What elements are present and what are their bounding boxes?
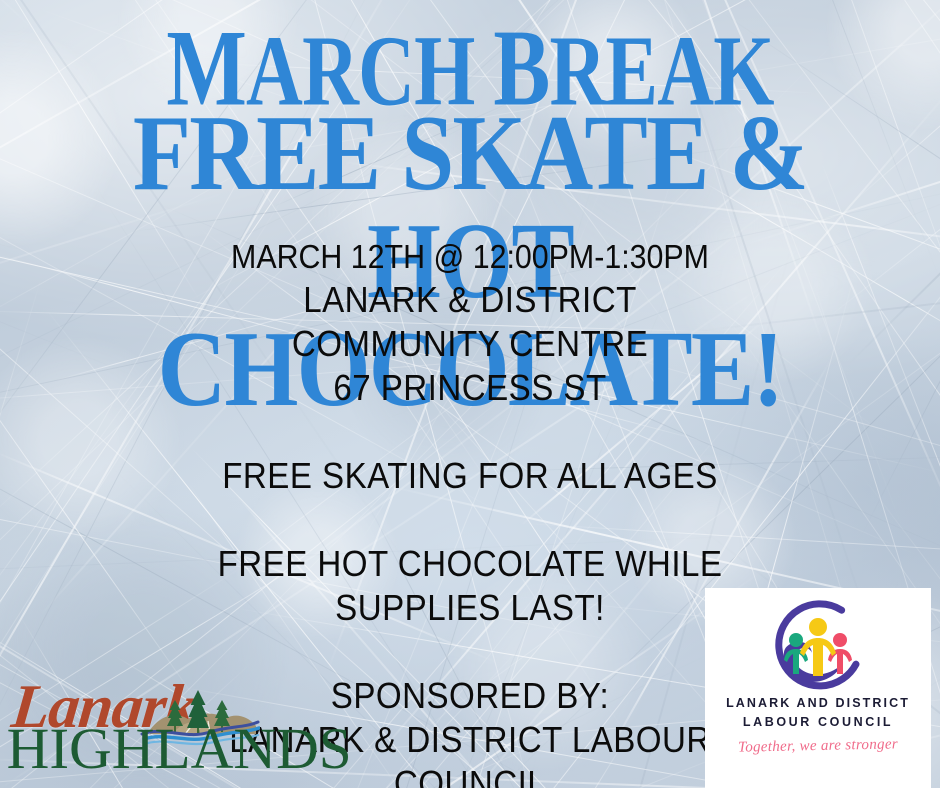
labour-council-emblem-icon [762,594,874,694]
labour-council-name-line-1: LANARK AND DISTRICT [705,694,931,713]
spacer [0,498,940,542]
poster-canvas: MARCH BREAK FREE SKATE & HOT CHOCOLATE! … [0,0,940,788]
offer-hot-chocolate-line-1: FREE HOT CHOCOLATE WHILE [38,542,903,586]
venue-address: 67 PRINCESS ST [38,366,903,410]
labour-council-name: LANARK AND DISTRICT LABOUR COUNCIL [705,694,931,732]
highlands-wordmark: HIGHLANDS [7,715,352,782]
event-datetime: MARCH 12TH @ 12:00PM-1:30PM [38,236,903,278]
labour-council-logo-card: LANARK AND DISTRICT LABOUR COUNCIL Toget… [705,588,931,788]
spacer [0,410,940,454]
labour-council-tagline: Together, we are stronger [705,736,931,758]
lanark-highlands-logo: Lanark [8,668,260,784]
offer-skating: FREE SKATING FOR ALL AGES [38,454,903,498]
venue-line-2: COMMUNITY CENTRE [38,322,903,366]
labour-council-name-line-2: LABOUR COUNCIL [705,713,931,732]
venue-line-1: LANARK & DISTRICT [38,278,903,322]
